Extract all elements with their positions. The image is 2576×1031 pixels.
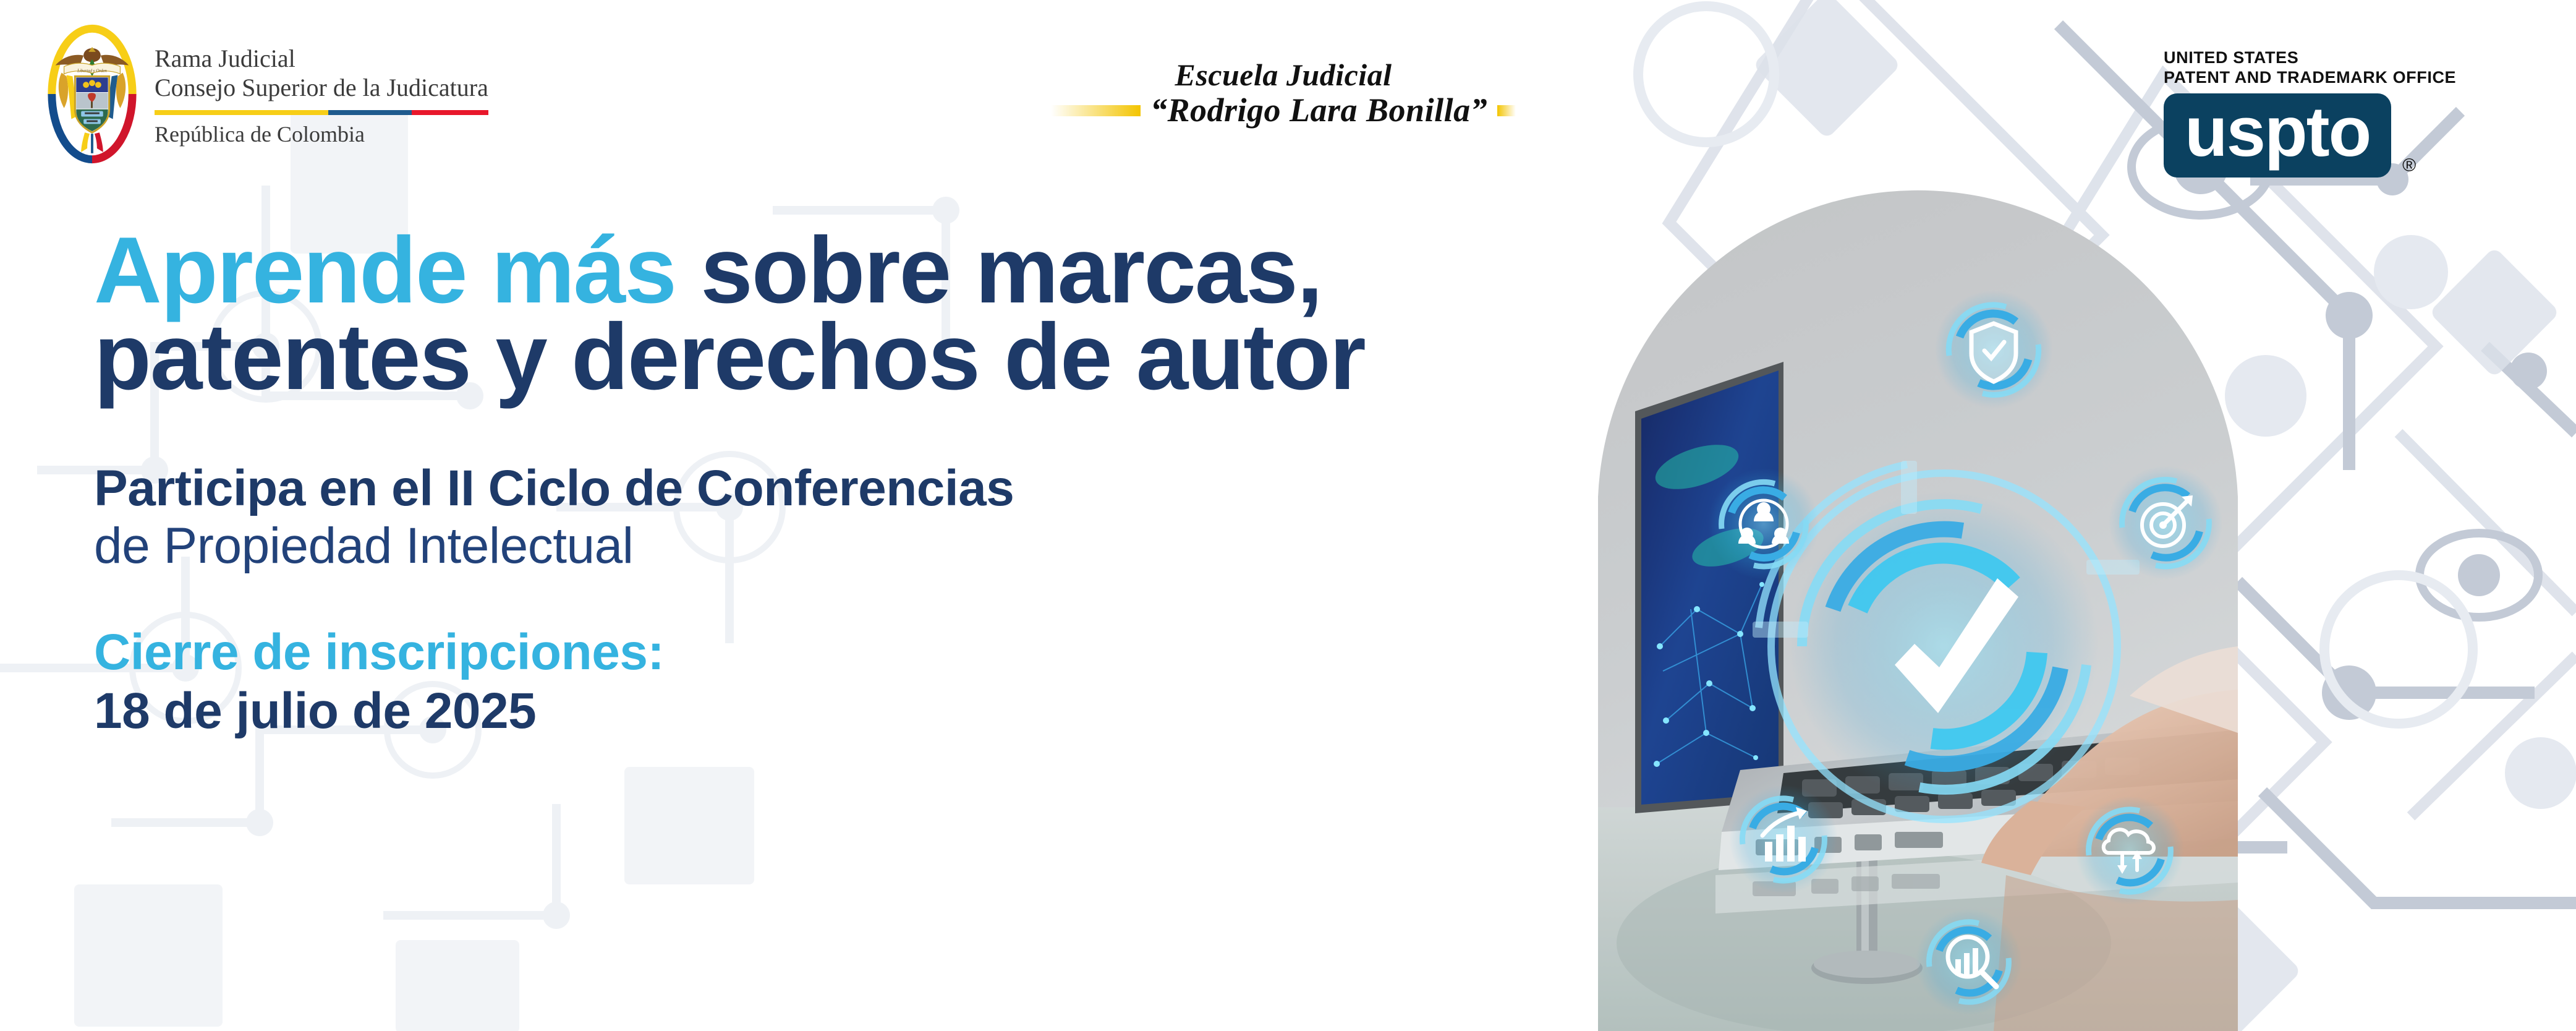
subtitle-block: Participa en el II Ciclo de Conferencias… bbox=[94, 460, 1609, 577]
escuela-bar-right bbox=[1497, 105, 1516, 116]
escuela-judicial-line1: Escuela Judicial bbox=[1175, 59, 1392, 92]
ip-conference-banner: Libertad y Orden bbox=[0, 0, 2576, 1031]
uspto-caption-line1: UNITED STATES bbox=[2164, 48, 2456, 68]
uspto-logo: UNITED STATES PATENT AND TRADEMARK OFFIC… bbox=[2164, 48, 2456, 178]
deadline-block: Cierre de inscripciones: 18 de julio de … bbox=[94, 623, 1609, 741]
page-title: Aprende más sobre marcas, patentes y der… bbox=[94, 228, 1609, 401]
deadline-label: Cierre de inscripciones: bbox=[94, 623, 1609, 681]
subtitle-line1: Participa en el II Ciclo de Conferencias bbox=[94, 460, 1609, 517]
copy-block: Aprende más sobre marcas, patentes y der… bbox=[94, 228, 1609, 741]
rama-judicial-line3: República de Colombia bbox=[155, 122, 488, 147]
deadline-date: 18 de julio de 2025 bbox=[94, 682, 1609, 742]
tricolor-divider bbox=[155, 110, 488, 115]
escuela-judicial-logo: Escuela Judicial “Rodrigo Lara Bonilla” bbox=[1051, 59, 1516, 128]
registered-trademark-icon: ® bbox=[2402, 155, 2416, 176]
subtitle-line2: de Propiedad Intelectual bbox=[94, 516, 1609, 576]
escuela-judicial-line2: “Rodrigo Lara Bonilla” bbox=[1150, 93, 1487, 128]
uspto-wordmark-box: uspto bbox=[2164, 93, 2391, 178]
svg-text:Libertad y Orden: Libertad y Orden bbox=[77, 69, 107, 73]
rama-judicial-line2: Consejo Superior de la Judicatura bbox=[155, 74, 488, 102]
colombia-coat-of-arms-icon: Libertad y Orden bbox=[43, 24, 141, 165]
tricolor-blue bbox=[328, 110, 412, 115]
tricolor-yellow bbox=[155, 110, 328, 115]
rama-judicial-line1: Rama Judicial bbox=[155, 45, 488, 73]
tricolor-red bbox=[412, 110, 488, 115]
uspto-caption-line2: PATENT AND TRADEMARK OFFICE bbox=[2164, 68, 2456, 88]
rama-judicial-logo: Libertad y Orden bbox=[43, 24, 488, 165]
escuela-bar-left bbox=[1051, 105, 1141, 116]
uspto-wordmark: uspto bbox=[2185, 97, 2370, 168]
laptop-hand-technology-photo bbox=[1598, 176, 2238, 1031]
